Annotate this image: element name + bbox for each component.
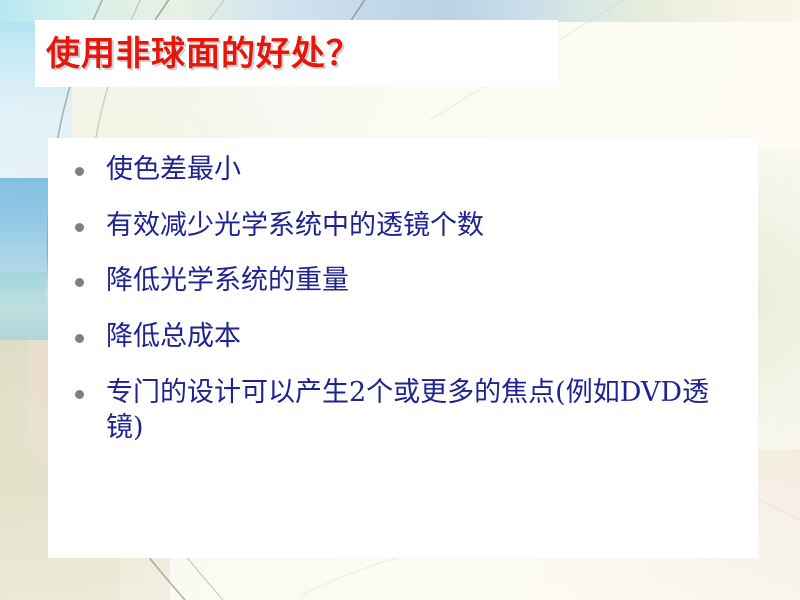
bullet-label: 有效减少光学系统中的透镜个数 xyxy=(106,210,484,241)
bullet-label: 降低总成本 xyxy=(106,321,241,352)
list-item: 降低总成本 xyxy=(64,319,742,355)
bullet-label: 降低光学系统的重量 xyxy=(106,265,349,296)
bullet-list: 使色差最小 有效减少光学系统中的透镜个数 降低光学系统的重量 降低总成本 专门的… xyxy=(64,152,742,446)
presentation-slide: 使用非球面的好处？ 使色差最小 有效减少光学系统中的透镜个数 降低光学系统的重量… xyxy=(0,0,800,600)
page-title: 使用非球面的好处？ xyxy=(46,37,361,71)
list-item: 降低光学系统的重量 xyxy=(64,263,742,299)
bullet-dot-icon xyxy=(75,278,84,287)
bullet-label: 使色差最小 xyxy=(106,154,241,185)
list-item: 使色差最小 xyxy=(64,152,742,188)
slide-body-card: 使色差最小 有效减少光学系统中的透镜个数 降低光学系统的重量 降低总成本 专门的… xyxy=(48,138,758,558)
slide-title-card: 使用非球面的好处？ xyxy=(35,20,558,87)
bullet-dot-icon xyxy=(75,223,84,232)
bullet-dot-icon xyxy=(75,390,84,399)
bullet-dot-icon xyxy=(75,167,84,176)
bullet-label: 专门的设计可以产生2个或更多的焦点(例如DVD透镜) xyxy=(106,377,709,444)
list-item: 有效减少光学系统中的透镜个数 xyxy=(64,208,742,244)
list-item: 专门的设计可以产生2个或更多的焦点(例如DVD透镜) xyxy=(64,375,742,446)
bullet-dot-icon xyxy=(75,334,84,343)
